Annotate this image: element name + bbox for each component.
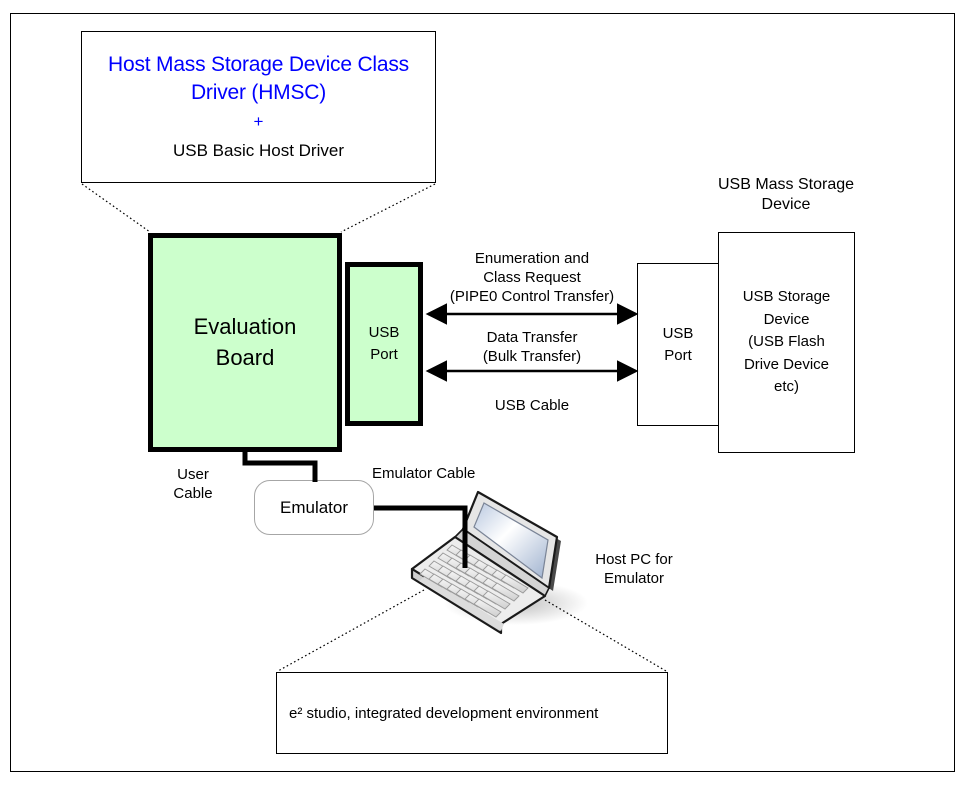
ide-label: e² studio, integrated development enviro… bbox=[289, 705, 598, 722]
enumeration-label: Enumeration and Class Request (PIPE0 Con… bbox=[423, 249, 641, 307]
usb-port-left-label: USB Port bbox=[369, 322, 400, 366]
hmsc-driver-title: Host Mass Storage Device Class Driver (H… bbox=[82, 51, 435, 106]
diagram-canvas: Host Mass Storage Device Class Driver (H… bbox=[0, 0, 965, 789]
usb-port-right-box: USB Port bbox=[637, 263, 719, 426]
host-pc-label: Host PC for Emulator bbox=[570, 550, 698, 588]
host-driver-box: Host Mass Storage Device Class Driver (H… bbox=[81, 31, 436, 183]
plus-symbol: + bbox=[254, 111, 264, 133]
user-cable-label: User Cable bbox=[152, 465, 234, 503]
usb-mass-storage-device-title: USB Mass Storage Device bbox=[655, 175, 917, 216]
emulator-cable-label: Emulator Cable bbox=[372, 464, 500, 483]
usb-cable-label: USB Cable bbox=[423, 396, 641, 415]
emulator-label: Emulator bbox=[280, 498, 348, 518]
usb-port-left-box: USB Port bbox=[345, 262, 423, 426]
usb-basic-host-driver-label: USB Basic Host Driver bbox=[173, 140, 344, 162]
ide-box: e² studio, integrated development enviro… bbox=[276, 672, 668, 754]
data-transfer-label: Data Transfer (Bulk Transfer) bbox=[423, 328, 641, 366]
emulator-box: Emulator bbox=[254, 480, 374, 535]
usb-storage-device-box: USB Storage Device (USB Flash Drive Devi… bbox=[718, 232, 855, 453]
evaluation-board-label: Evaluation Board bbox=[194, 312, 297, 373]
usb-storage-device-label: USB Storage Device (USB Flash Drive Devi… bbox=[743, 286, 831, 399]
evaluation-board-box: Evaluation Board bbox=[148, 233, 342, 452]
usb-port-right-label: USB Port bbox=[663, 323, 694, 367]
